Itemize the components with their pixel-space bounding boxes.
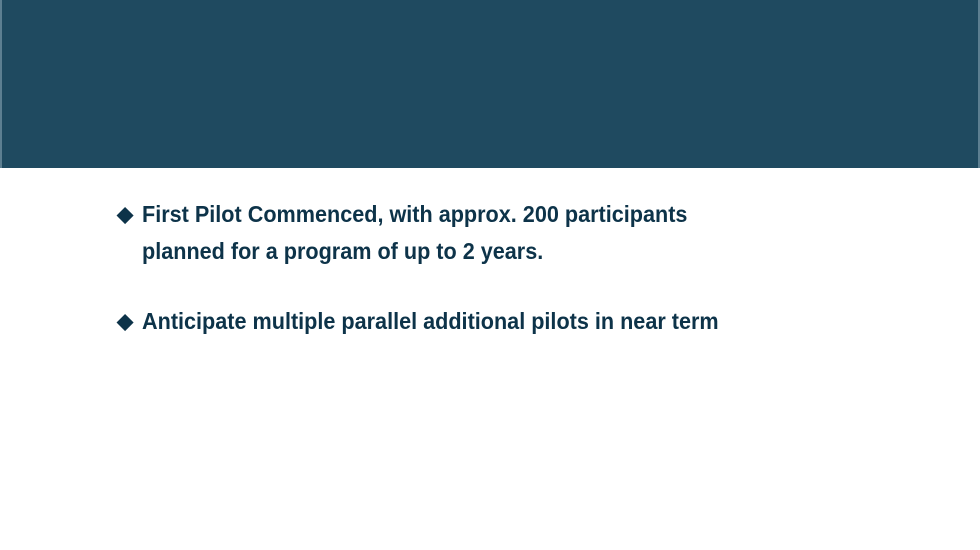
bullet-text: First Pilot Commenced, with approx. 200 … [142,196,744,270]
diamond-bullet-icon: ◆ [117,196,142,233]
slide-body: ◆ First Pilot Commenced, with approx. 20… [117,196,817,340]
bullet-text: Anticipate multiple parallel additional … [142,303,744,340]
list-item: ◆ First Pilot Commenced, with approx. 20… [117,196,817,270]
title-banner [0,0,980,168]
list-item: ◆ Anticipate multiple parallel additiona… [117,303,817,340]
presentation-slide: BEAT®diabetes Current Status ◆ First Pil… [0,0,980,550]
diamond-bullet-icon: ◆ [117,303,142,340]
banner-left-edge [0,0,2,168]
